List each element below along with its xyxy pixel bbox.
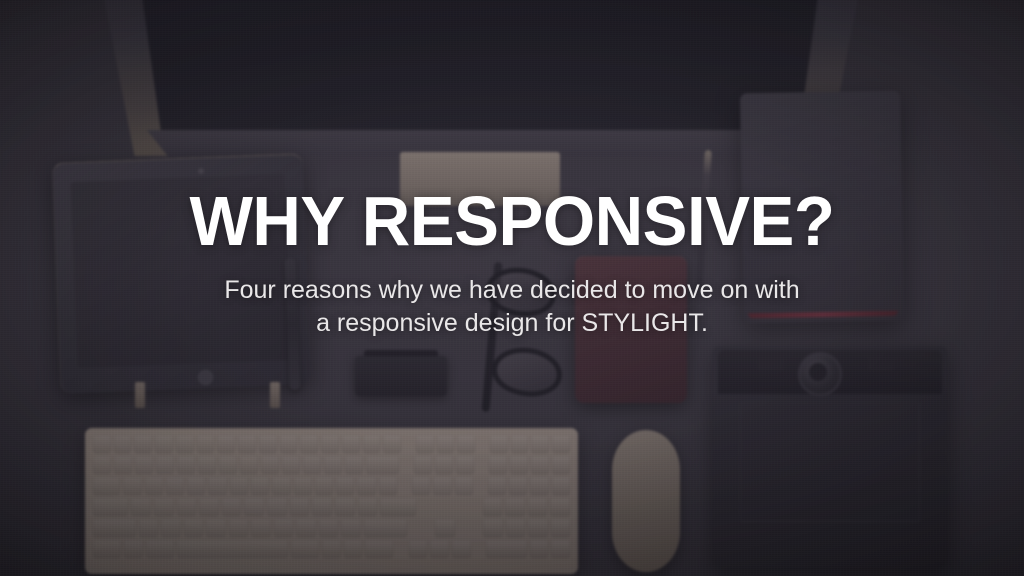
presentation-slide: WHY RESPONSIVE? Four reasons why we have… [0, 0, 1024, 576]
slide-text-overlay: WHY RESPONSIVE? Four reasons why we have… [0, 0, 1024, 576]
slide-title: WHY RESPONSIVE? [189, 186, 834, 256]
slide-subtitle: Four reasons why we have decided to move… [224, 274, 799, 341]
slide-subtitle-line-2: a responsive design for STYLIGHT. [316, 309, 708, 337]
slide-subtitle-line-1: Four reasons why we have decided to move… [224, 276, 799, 304]
